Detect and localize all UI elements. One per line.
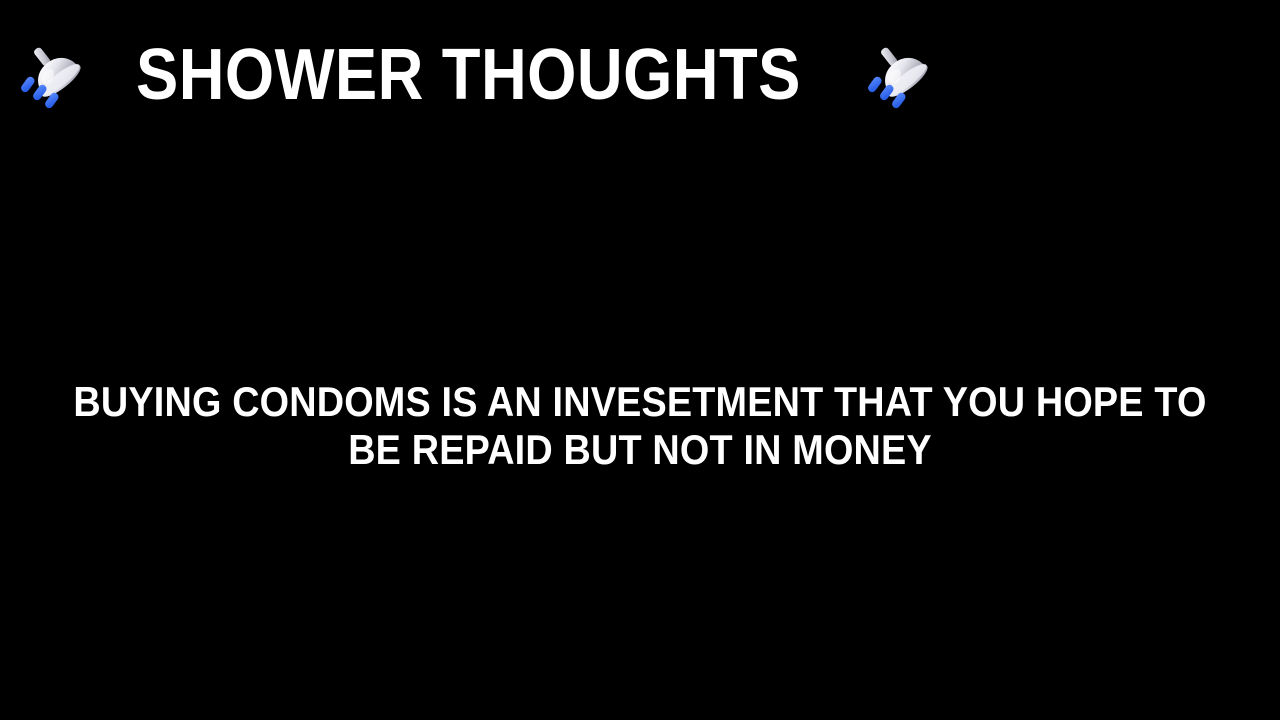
quote-line-2: BE REPAID BUT NOT IN MONEY bbox=[64, 426, 1216, 474]
header-bar: SHOWER THOUGHTS bbox=[0, 0, 1280, 150]
shower-thoughts-card: SHOWER THOUGHTS bbox=[0, 0, 1280, 720]
shower-icon bbox=[20, 40, 94, 114]
quote-block: BUYING CONDOMS IS AN INVESETMENT THAT YO… bbox=[0, 378, 1280, 474]
shower-icon bbox=[867, 40, 941, 114]
page-title: SHOWER THOUGHTS bbox=[136, 38, 801, 112]
quote-line-1: BUYING CONDOMS IS AN INVESETMENT THAT YO… bbox=[64, 378, 1216, 426]
